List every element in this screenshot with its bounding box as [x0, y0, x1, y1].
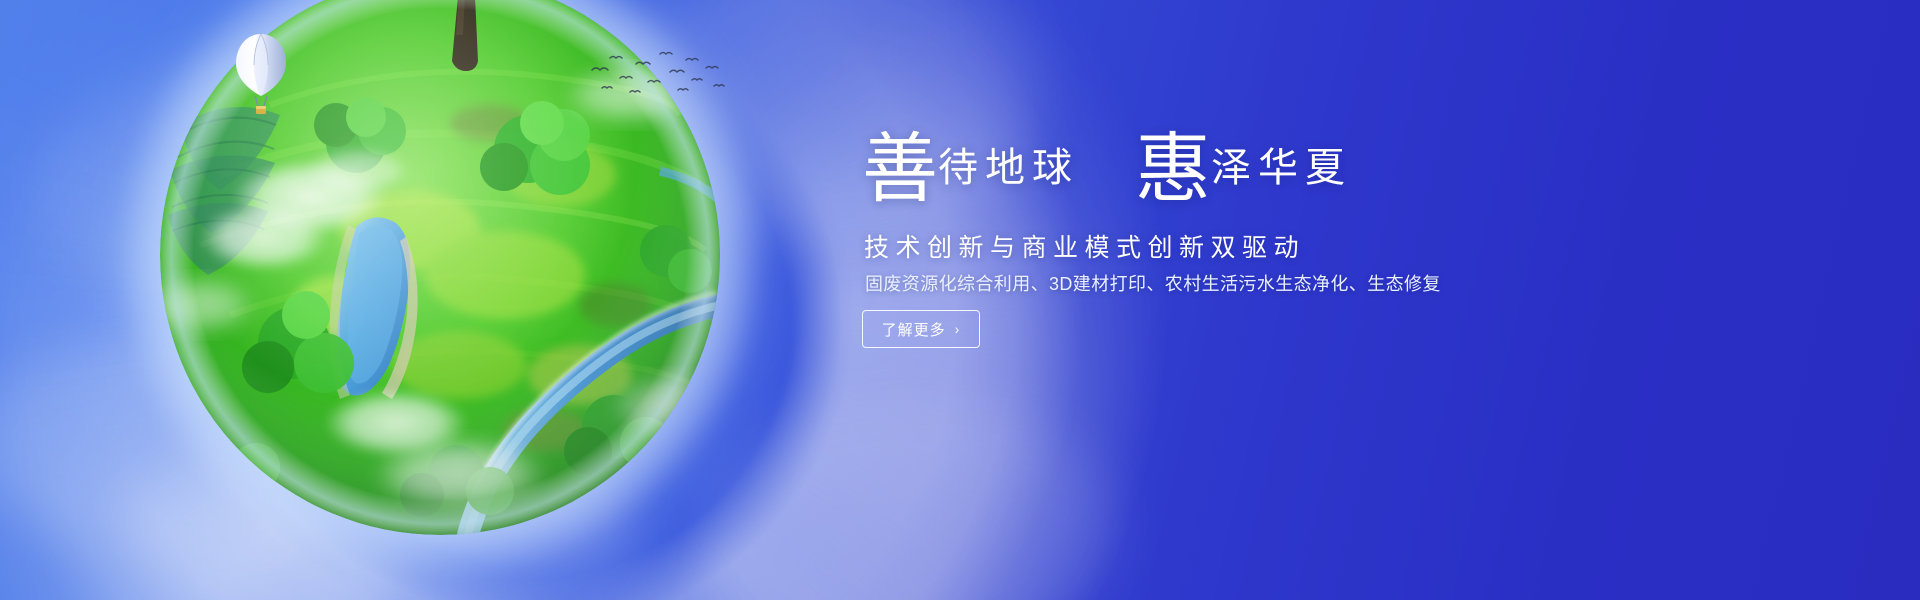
banner-content: 善待地球惠泽华夏 技术创新与商业模式创新双驱动 固废资源化综合利用、3D建材打印… [862, 0, 1862, 600]
chevron-right-icon: › [955, 322, 961, 336]
bird-flock-icon [586, 46, 726, 98]
page-subtitle: 技术创新与商业模式创新双驱动 [864, 228, 1305, 264]
hero-banner: 善待地球惠泽华夏 技术创新与商业模式创新双驱动 固废资源化综合利用、3D建材打印… [0, 0, 1920, 600]
learn-more-button[interactable]: 了解更多 › [862, 310, 980, 348]
page-title: 善待地球惠泽华夏 [862, 132, 1352, 208]
headline-small-2: 泽华夏 [1211, 145, 1352, 190]
page-description: 固废资源化综合利用、3D建材打印、农村生活污水生态净化、生态修复 [865, 270, 1441, 296]
hot-air-balloon-icon [232, 30, 290, 122]
learn-more-label: 了解更多 [882, 319, 946, 340]
headline-small-1: 待地球 [938, 145, 1079, 190]
headline-big-1: 善 [862, 128, 938, 212]
headline-big-2: 惠 [1135, 128, 1211, 212]
